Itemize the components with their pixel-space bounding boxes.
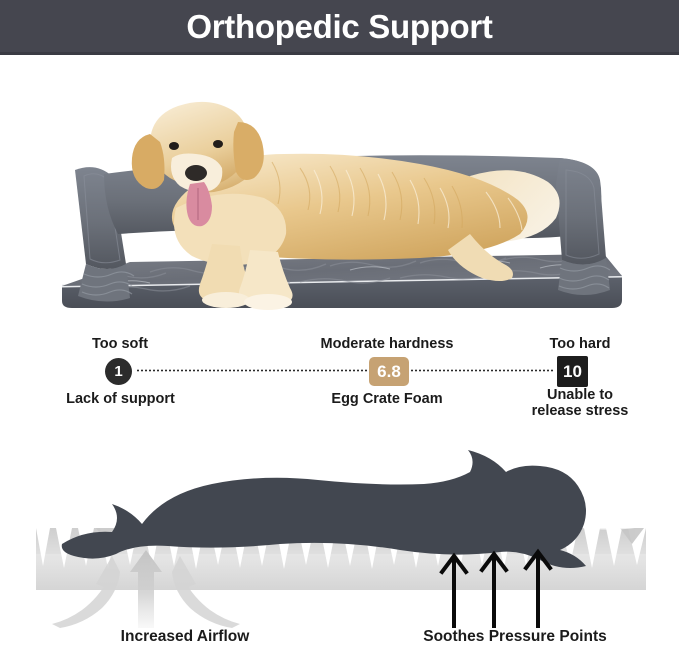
scale-left-badge: 1 [105, 358, 132, 385]
scale-right-bottom-label: Unable to release stress [500, 387, 660, 419]
hardness-scale: Too soft 1 Lack of support Moderate hard… [0, 325, 679, 430]
scale-right-bottom-line1: Unable to [547, 387, 613, 403]
airflow-label: Increased Airflow [60, 628, 310, 646]
bottom-label-row: Increased Airflow Soothes Pressure Point… [0, 628, 679, 654]
scale-middle-bottom-label: Egg Crate Foam [287, 391, 487, 407]
scale-left-top-label: Too soft [50, 336, 190, 352]
pressure-points-label: Soothes Pressure Points [380, 628, 650, 646]
bolster-left-plush-tip [78, 264, 130, 302]
foam-cross-section-diagram [0, 432, 679, 628]
scale-middle-top-label: Moderate hardness [287, 336, 487, 352]
dog-paw-right [244, 294, 292, 310]
foam-diagram-illustration [0, 432, 679, 628]
dog-paw-left [202, 292, 250, 308]
product-photo-illustration [0, 58, 679, 316]
dog-ear-right [233, 122, 263, 180]
scale-connector-left [136, 369, 370, 372]
dog-eye-right [213, 140, 223, 148]
pressure-arrow-1 [442, 556, 466, 628]
dog-eye-left [169, 142, 179, 150]
header-banner: Orthopedic Support [0, 0, 679, 55]
scale-right-top-label: Too hard [500, 336, 660, 352]
scale-right-badge: 10 [557, 356, 588, 387]
infographic-page: Orthopedic Support [0, 0, 679, 654]
scale-connector-right [406, 369, 555, 372]
scale-left-bottom-label: Lack of support [28, 391, 213, 407]
dog-nose [185, 165, 207, 181]
pressure-arrow-2 [482, 554, 506, 628]
scale-right-bottom-line2: release stress [532, 403, 629, 419]
page-title: Orthopedic Support [186, 10, 492, 43]
product-photo [0, 58, 679, 316]
scale-middle-badge: 6.8 [369, 357, 409, 386]
